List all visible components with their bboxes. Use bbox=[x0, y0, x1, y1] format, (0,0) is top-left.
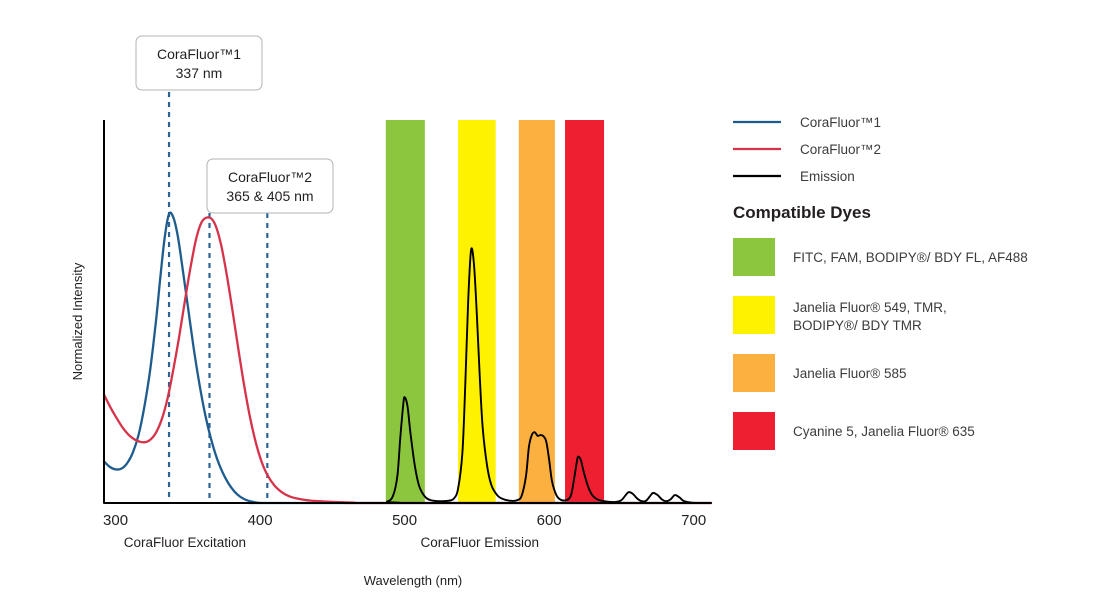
dye-label: Cyanine 5, Janelia Fluor® 635 bbox=[793, 424, 975, 439]
dye-label: FITC, FAM, BODIPY®/ BDY FL, AF488 bbox=[793, 250, 1028, 265]
legend-label: CoraFluor™2 bbox=[800, 142, 881, 157]
corafluor2-callout-value: 365 & 405 nm bbox=[226, 188, 313, 204]
red-band bbox=[565, 120, 604, 503]
compatible-dyes-heading: Compatible Dyes bbox=[733, 203, 871, 222]
dye-label: Janelia Fluor® 549, TMR, bbox=[793, 300, 947, 315]
corafluor1-callout: CoraFluor™1337 nm bbox=[136, 36, 262, 90]
dye-label: Janelia Fluor® 585 bbox=[793, 366, 907, 381]
dye-color-swatch bbox=[733, 354, 775, 392]
corafluor2-callout: CoraFluor™2365 & 405 nm bbox=[207, 159, 333, 213]
wavelength-bands bbox=[386, 120, 604, 503]
section-label-corafluor-excitation: CoraFluor Excitation bbox=[124, 535, 246, 550]
y-axis-title: Normalized Intensity bbox=[70, 262, 85, 380]
corafluor2-callout-box bbox=[207, 159, 333, 213]
dye-color-swatch bbox=[733, 296, 775, 334]
section-label-corafluor-emission: CoraFluor Emission bbox=[420, 535, 539, 550]
x-tick-label-300: 300 bbox=[103, 512, 128, 529]
dye-color-swatch bbox=[733, 412, 775, 450]
x-tick-label-500: 500 bbox=[392, 512, 417, 529]
corafluor1-callout-title: CoraFluor™1 bbox=[157, 46, 241, 62]
legend-label: CoraFluor™1 bbox=[800, 115, 881, 130]
corafluor1-callout-box bbox=[136, 36, 262, 90]
legend-label: Emission bbox=[800, 169, 855, 184]
x-tick-label-600: 600 bbox=[537, 512, 562, 529]
orange-band bbox=[519, 120, 555, 503]
x-axis-title: Wavelength (nm) bbox=[364, 573, 463, 588]
corafluor1-callout-value: 337 nm bbox=[176, 65, 223, 81]
dye-color-swatch bbox=[733, 238, 775, 276]
x-tick-label-700: 700 bbox=[681, 512, 706, 529]
spectra-figure: 300400500600700 CoraFluor ExcitationCora… bbox=[0, 0, 1110, 612]
dye-label: BODIPY®/ BDY TMR bbox=[793, 318, 922, 333]
corafluor2-callout-title: CoraFluor™2 bbox=[228, 169, 312, 185]
green-band bbox=[386, 120, 425, 503]
x-tick-label-400: 400 bbox=[248, 512, 273, 529]
